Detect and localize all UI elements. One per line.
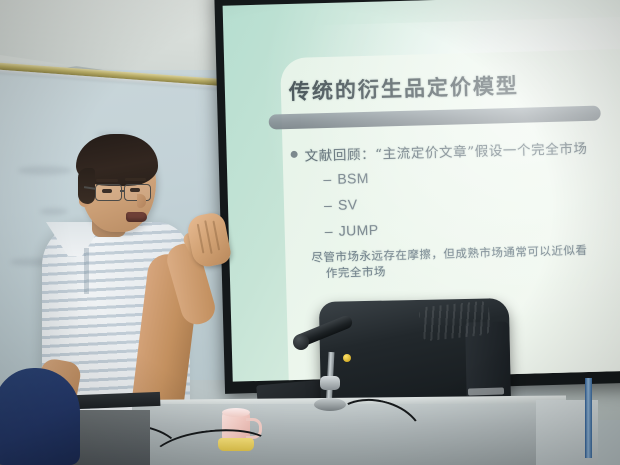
dash-icon: – (324, 197, 338, 213)
eyeglasses-bridge (120, 190, 125, 192)
lecture-photo-scene: 传统的衍生品定价模型 文献回顾：“主流定价文章”假设一个完全市场 –BSM –S… (0, 0, 620, 465)
slide-subitem-label: SV (338, 196, 358, 213)
presenter-eye-left (102, 189, 112, 193)
dash-icon: – (325, 223, 339, 239)
blue-chair (0, 368, 80, 465)
coffee-mug-rim (222, 408, 250, 417)
microphone-indicator-light (343, 354, 351, 362)
presenter-shirt-placket (84, 248, 89, 294)
bullet-dot-icon (291, 151, 298, 158)
presenter-eyebrow-right (125, 178, 146, 181)
slide-subitem-label: BSM (337, 170, 369, 187)
slide-subitem-bsm: –BSM (323, 170, 369, 187)
dash-icon: – (323, 171, 337, 187)
crt-monitor-vents (418, 300, 491, 341)
presenter-eye-right (130, 188, 140, 192)
presenter-eyebrow-left (96, 179, 118, 182)
slide-subitem-sv: –SV (324, 196, 358, 213)
microphone-joint (320, 376, 340, 390)
microphone-head-icon (293, 334, 309, 350)
slide-subitem-jump: –JUMP (325, 222, 379, 239)
slide-subitem-label: JUMP (339, 222, 379, 239)
presenter-mouth (126, 212, 147, 222)
blue-pole (585, 378, 592, 458)
crt-monitor-badge (468, 387, 504, 395)
